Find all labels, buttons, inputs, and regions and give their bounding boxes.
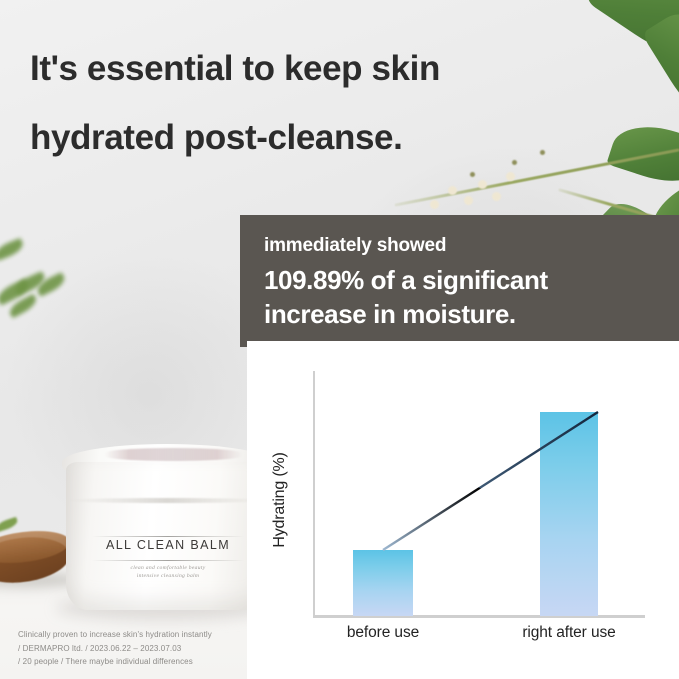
x-tick-before-use: before use bbox=[313, 624, 453, 642]
callout-main-line-1: 109.89% of a significant bbox=[264, 263, 657, 297]
flower-bud bbox=[430, 200, 439, 209]
flower-bud bbox=[478, 180, 487, 189]
label-rule-bottom bbox=[92, 560, 244, 561]
callout-main-line-2: increase in moisture. bbox=[264, 297, 657, 331]
product-name: ALL CLEAN BALM bbox=[92, 538, 244, 552]
flower-bud bbox=[470, 172, 475, 177]
headline-line-1: It's essential to keep skin bbox=[30, 34, 590, 103]
y-axis-label: Hydrating (%) bbox=[271, 405, 289, 595]
footnote-disclaimer: Clinically proven to increase skin's hyd… bbox=[18, 628, 248, 669]
statistic-callout: immediately showed 109.89% of a signific… bbox=[240, 215, 679, 347]
infographic-screen: ALL CLEAN BALM clean and comfortable bea… bbox=[0, 0, 679, 679]
footnote-line-2: / DERMAPRO ltd. / 2023.06.22 – 2023.07.0… bbox=[18, 642, 248, 656]
chart-card: Hydrating (%) before use right after use bbox=[247, 341, 679, 679]
product-tagline: clean and comfortable beauty intensive c… bbox=[92, 564, 244, 580]
jar-lid-print bbox=[104, 448, 242, 461]
x-tick-right-after-use: right after use bbox=[499, 624, 639, 642]
product-tagline-line1: clean and comfortable beauty bbox=[92, 564, 244, 572]
flower-bud bbox=[448, 186, 457, 195]
y-axis-line bbox=[313, 371, 315, 617]
jar-seam bbox=[68, 498, 266, 503]
footnote-line-1: Clinically proven to increase skin's hyd… bbox=[18, 628, 248, 642]
flower-bud bbox=[492, 192, 501, 201]
page-title: It's essential to keep skin hydrated pos… bbox=[30, 34, 590, 172]
label-rule-top bbox=[92, 536, 244, 537]
callout-lead-text: immediately showed bbox=[264, 233, 657, 259]
flower-bud bbox=[506, 172, 515, 181]
flower-bud bbox=[464, 196, 473, 205]
product-tagline-line2: intensive cleansing balm bbox=[92, 572, 244, 580]
footnote-line-3: / 20 people / There maybe individual dif… bbox=[18, 655, 248, 669]
bar-chart: Hydrating (%) before use right after use bbox=[247, 341, 679, 679]
bar-before-use bbox=[353, 550, 413, 616]
bar-right-after-use bbox=[540, 412, 598, 616]
headline-line-2: hydrated post-cleanse. bbox=[30, 103, 590, 172]
callout-main-text: 109.89% of a significant increase in moi… bbox=[264, 263, 657, 331]
